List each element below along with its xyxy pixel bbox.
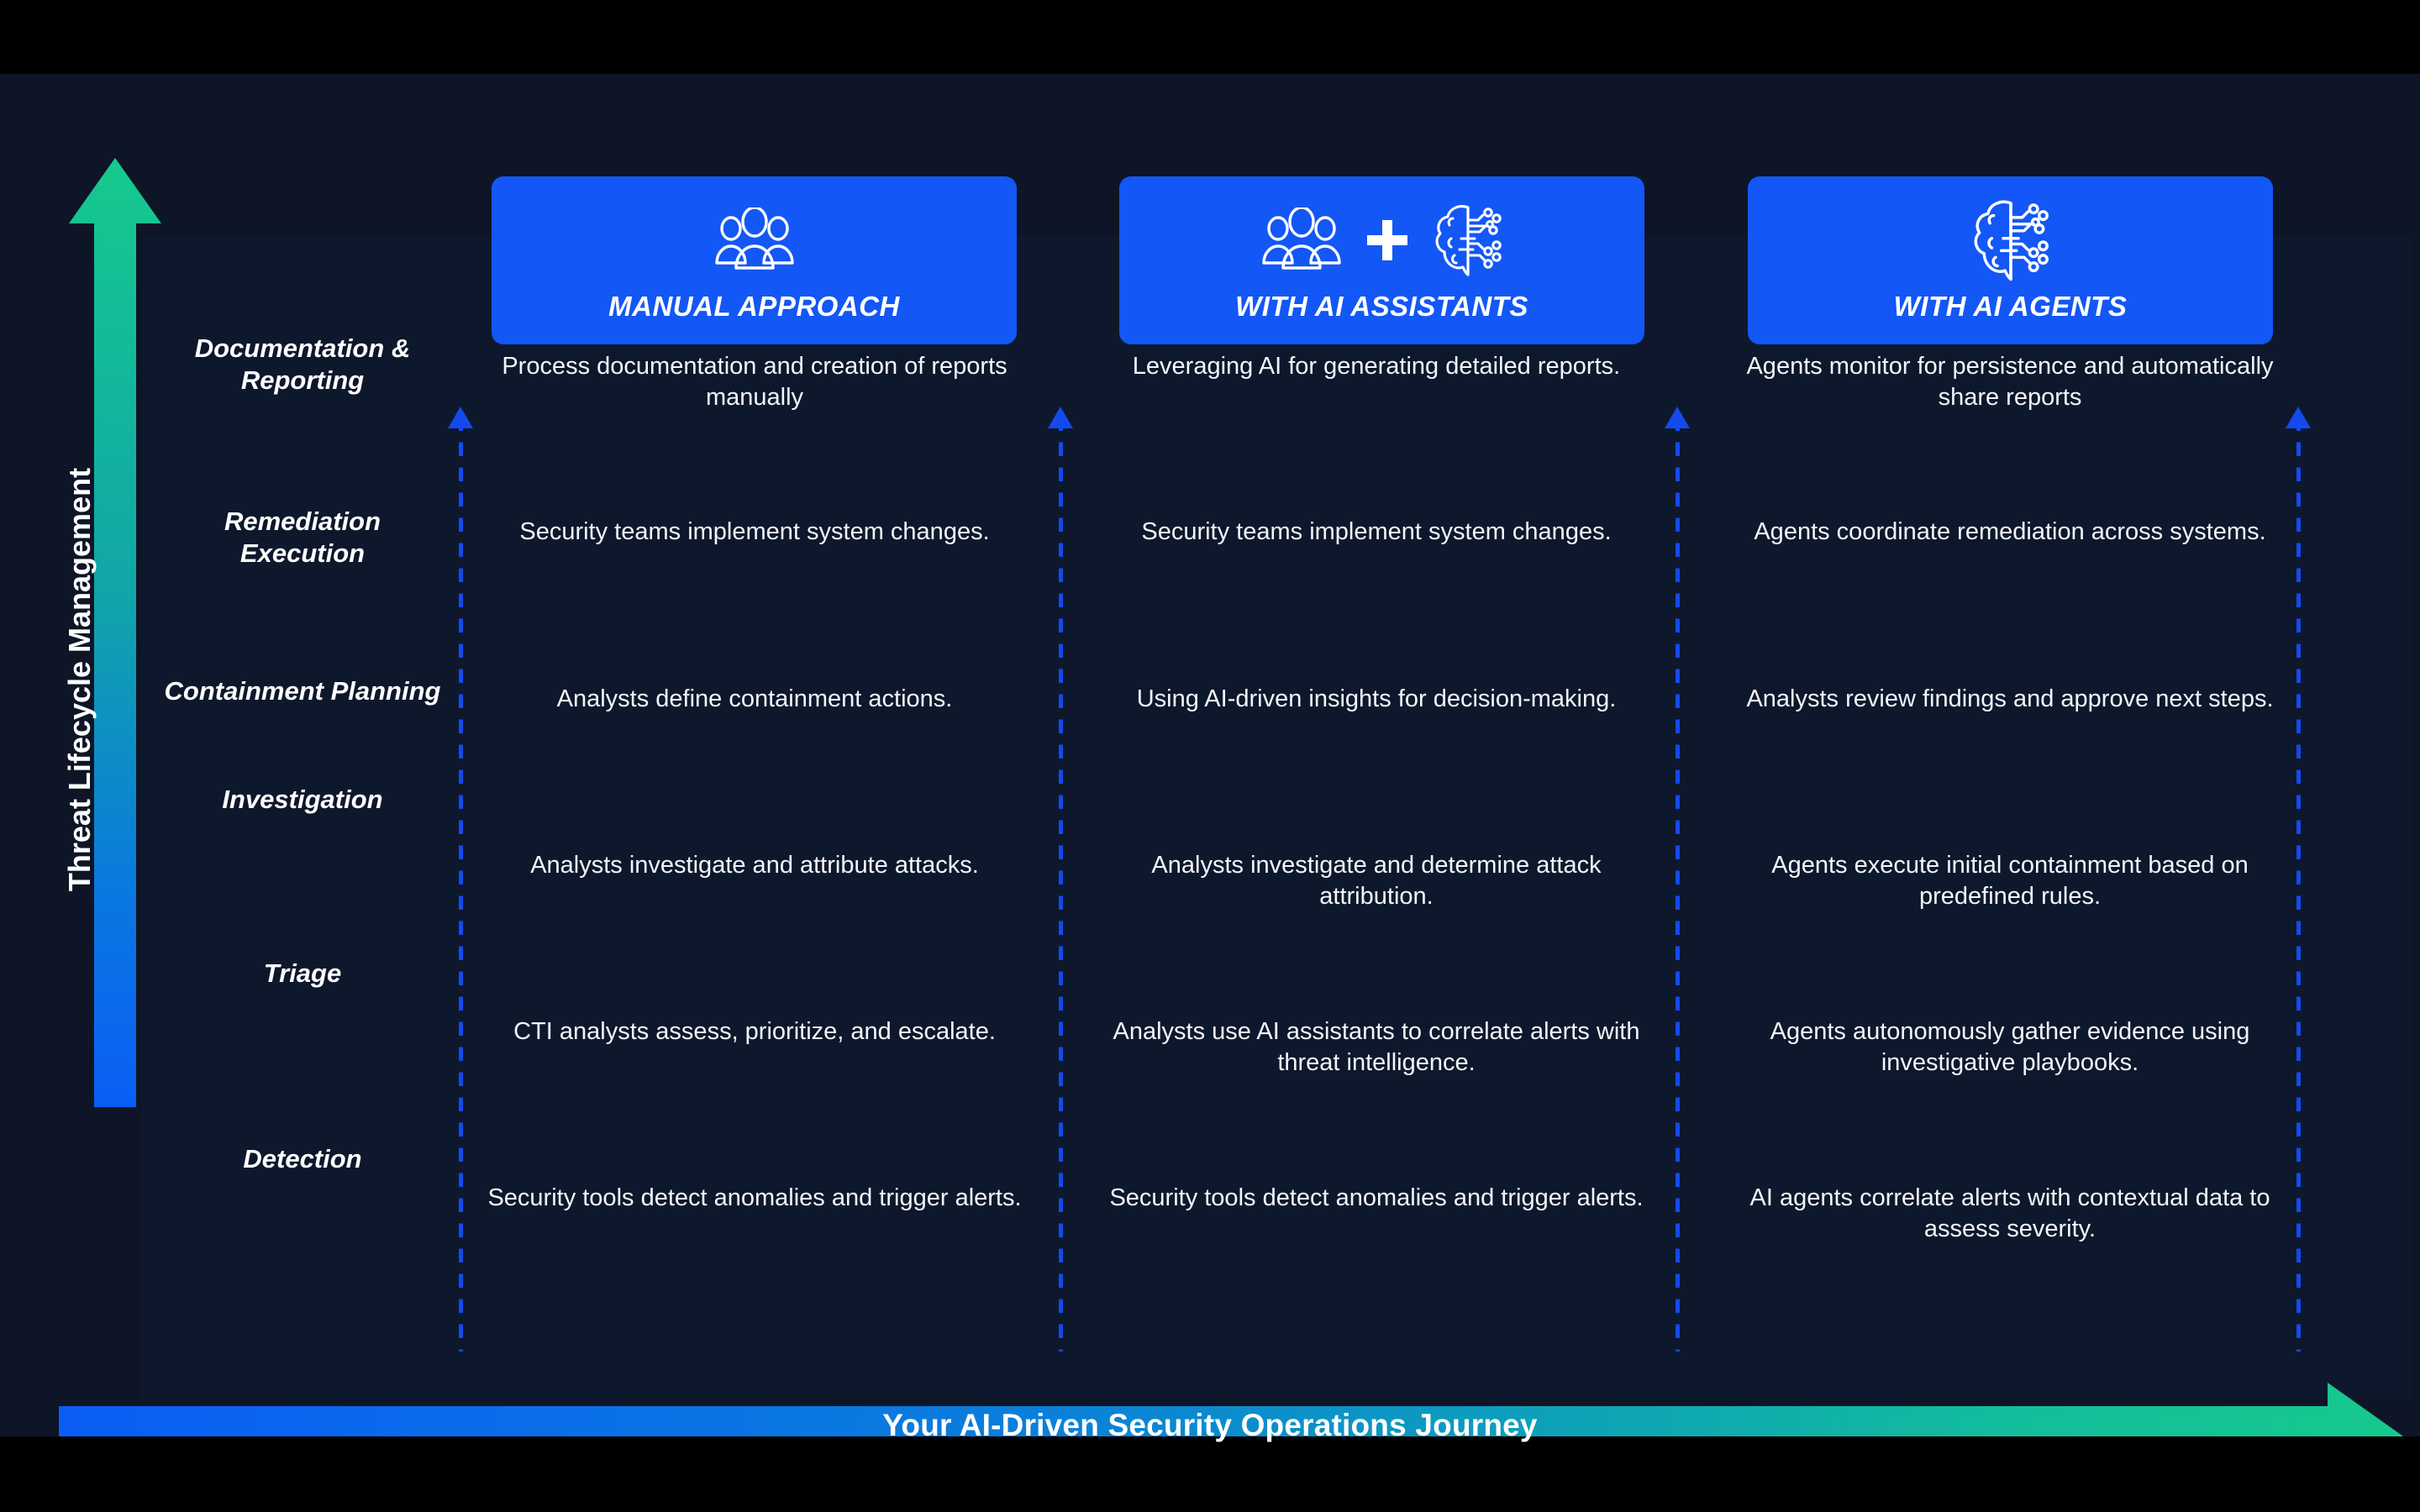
infographic-root: Threat Lifecycle Management Your AI-Driv… xyxy=(0,0,2420,1512)
plus-icon xyxy=(1367,220,1407,260)
cell-assistants-detection: Security tools detect anomalies and trig… xyxy=(1107,1183,1645,1214)
cell-agents-investigation: Agents execute initial containment based… xyxy=(1724,850,2296,912)
column-header-with-ai-assistants[interactable]: WITH AI ASSISTANTS xyxy=(1119,176,1644,344)
cell-manual-remediation: Security teams implement system changes. xyxy=(486,517,1023,548)
row-label-remediation-execution: Remediation Execution xyxy=(164,506,441,570)
row-label-triage: Triage xyxy=(164,958,441,990)
people-icon xyxy=(711,207,798,273)
column-header-icons xyxy=(711,195,798,286)
cell-agents-triage: Agents autonomously gather evidence usin… xyxy=(1724,1016,2296,1079)
cell-assistants-documentation: Leveraging AI for generating detailed re… xyxy=(1107,351,1645,382)
cell-agents-containment: Analysts review findings and approve nex… xyxy=(1724,684,2296,715)
vertical-axis-arrow xyxy=(69,158,161,1107)
cell-agents-documentation: Agents monitor for persistence and autom… xyxy=(1724,351,2296,413)
column-separator xyxy=(2296,415,2301,1352)
column-header-icons xyxy=(1967,195,2054,286)
column-header-manual-approach[interactable]: MANUAL APPROACH xyxy=(492,176,1017,344)
row-label-detection: Detection xyxy=(164,1143,441,1175)
row-label-investigation: Investigation xyxy=(164,784,441,816)
cell-agents-detection: AI agents correlate alerts with contextu… xyxy=(1724,1183,2296,1245)
cell-manual-triage: CTI analysts assess, prioritize, and esc… xyxy=(486,1016,1023,1047)
column-header-icons xyxy=(1258,195,1507,286)
letterbox-top xyxy=(0,0,2420,74)
ai-brain-icon xyxy=(1967,197,2054,284)
column-header-with-ai-agents[interactable]: WITH AI AGENTS xyxy=(1748,176,2273,344)
cell-manual-documentation: Process documentation and creation of re… xyxy=(486,351,1023,413)
row-label-documentation-reporting: Documentation & Reporting xyxy=(164,333,441,396)
cell-assistants-containment: Using AI-driven insights for decision-ma… xyxy=(1107,684,1645,715)
column-separator xyxy=(459,415,463,1352)
cell-assistants-triage: Analysts use AI assistants to correlate … xyxy=(1107,1016,1645,1079)
cell-manual-investigation: Analysts investigate and attribute attac… xyxy=(486,850,1023,881)
cell-agents-remediation: Agents coordinate remediation across sys… xyxy=(1724,517,2296,548)
cell-assistants-investigation: Analysts investigate and determine attac… xyxy=(1107,850,1645,912)
cell-manual-detection: Security tools detect anomalies and trig… xyxy=(486,1183,1023,1214)
column-header-title: WITH AI ASSISTANTS xyxy=(1235,291,1528,323)
cell-assistants-remediation: Security teams implement system changes. xyxy=(1107,517,1645,548)
people-icon xyxy=(1258,207,1345,273)
cell-manual-containment: Analysts define containment actions. xyxy=(486,684,1023,715)
column-header-title: WITH AI AGENTS xyxy=(1894,291,2128,323)
ai-brain-icon xyxy=(1429,202,1507,279)
row-label-containment-planning: Containment Planning xyxy=(164,675,441,707)
column-separator xyxy=(1059,415,1063,1352)
letterbox-bottom xyxy=(0,1436,2420,1512)
diagram-canvas: Threat Lifecycle Management Your AI-Driv… xyxy=(0,74,2420,1436)
column-separator xyxy=(1676,415,1680,1352)
column-header-title: MANUAL APPROACH xyxy=(608,291,900,323)
